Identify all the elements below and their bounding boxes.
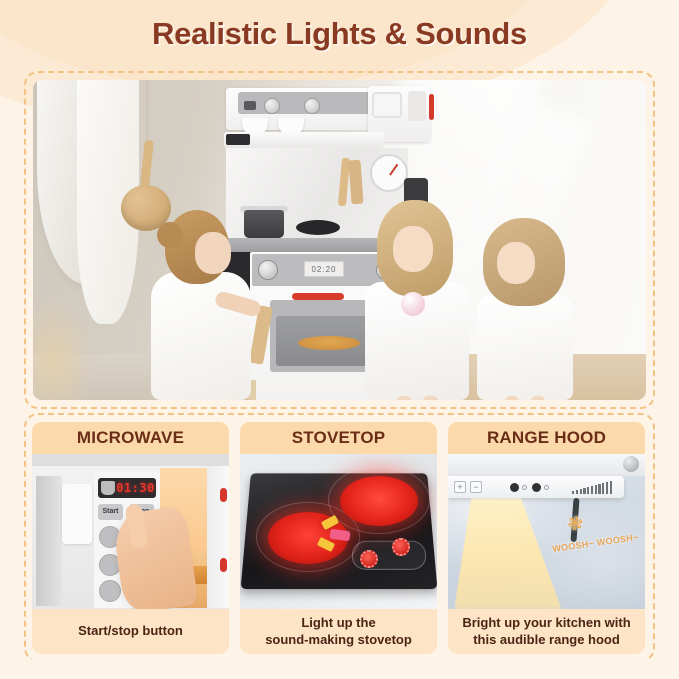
oven-display: 02:20 [304, 261, 344, 277]
stovetop-photo [240, 454, 437, 609]
panel-header-stovetop: STOVETOP [240, 422, 437, 454]
child-face [393, 226, 433, 272]
microwave-door-handle-top [220, 488, 227, 502]
microwave-door [207, 466, 229, 608]
kitchen-dial-1 [264, 98, 280, 114]
range-hood-upper-shelf [448, 454, 645, 476]
hood-light-level-bars-icon [572, 480, 612, 494]
microwave-side-button [62, 484, 92, 544]
kitchen-dial-2 [304, 98, 320, 114]
stovetop-knob-1[interactable] [360, 550, 378, 568]
feature-panel-stovetop: STOVETOP Light up the sound-making stove… [240, 422, 437, 654]
dried-grass-decor [33, 295, 95, 400]
burner-back-lit [340, 476, 418, 526]
child-face [497, 242, 535, 284]
stovetop-knob-2[interactable] [392, 538, 410, 556]
hood-minus-button[interactable]: − [470, 481, 482, 493]
child-dress [477, 294, 573, 400]
hood-small-dot-1 [522, 485, 527, 490]
feature-panels-row: MICROWAVE 01:30 Start Stop [32, 422, 647, 654]
child-toddler-right [473, 218, 577, 400]
oven-knob-left [258, 260, 278, 280]
caption-line-1: Light up the [301, 615, 375, 630]
caption-line-2: this audible range hood [473, 632, 620, 647]
microwave-timer-value: 01:30 [115, 481, 156, 495]
kitchen-clock-icon [370, 154, 408, 192]
microwave-timer-display: 01:30 [98, 478, 156, 498]
child-hand [111, 505, 198, 609]
range-hood-vent [226, 134, 250, 145]
microwave-top-bar [32, 454, 229, 466]
toy-pizza [298, 336, 360, 350]
caption-line-2: sound-making stovetop [265, 632, 412, 647]
coffee-cup-icon [101, 481, 115, 495]
hood-small-dot-2 [544, 485, 549, 490]
child-leg [397, 396, 412, 400]
oven-red-handle [292, 293, 344, 300]
panel-caption-stovetop: Light up the sound-making stovetop [240, 609, 437, 654]
child-holding-ball [363, 200, 471, 400]
child-hair-bun [157, 222, 183, 248]
panel-caption-microwave: Start/stop button [32, 609, 229, 654]
caption-line-1: Bright up your kitchen with [462, 615, 630, 630]
bottom-strip [0, 659, 679, 679]
toy-skillet [296, 220, 340, 235]
microwave-keypad [408, 91, 426, 121]
shelf-knob-icon [623, 456, 639, 472]
microwave-round-button-5[interactable] [99, 580, 121, 602]
kitchen-led-icon [244, 101, 256, 110]
range-hood-photo: + − ❃ WOOSH~ WOOSH~ [448, 454, 645, 609]
panel-header-microwave: MICROWAVE [32, 422, 229, 454]
microwave-start-button[interactable]: Start [98, 504, 123, 520]
child-leg [531, 396, 545, 400]
feature-panel-microwave: MICROWAVE 01:30 Start Stop [32, 422, 229, 654]
feature-panel-range-hood: RANGE HOOD + − ❃ [448, 422, 645, 654]
toy-ball [401, 292, 425, 316]
panel-caption-range-hood: Bright up your kitchen with this audible… [448, 609, 645, 654]
hood-dark-button-2[interactable] [532, 483, 541, 492]
hood-plus-button[interactable]: + [454, 481, 466, 493]
hero-photo: 02:20 [33, 80, 646, 400]
hood-dark-button-1[interactable] [510, 483, 519, 492]
microwave-red-handle [429, 94, 434, 120]
microwave-window [372, 92, 402, 118]
panel-header-range-hood: RANGE HOOD [448, 422, 645, 454]
child-leg [423, 396, 438, 400]
child-at-oven [145, 210, 255, 400]
microwave-side-trim [36, 476, 62, 606]
page-title: Realistic Lights & Sounds [0, 16, 679, 52]
fan-swirl-icon: ❃ [562, 512, 587, 537]
child-face [195, 232, 231, 274]
pan-hanging-string [146, 80, 148, 146]
child-dress [151, 272, 251, 400]
microwave-door-handle-bottom [220, 558, 227, 572]
marketing-image-root: Realistic Lights & Sounds [0, 0, 679, 679]
child-leg [505, 396, 519, 400]
microwave-photo: 01:30 Start Stop [32, 454, 229, 609]
